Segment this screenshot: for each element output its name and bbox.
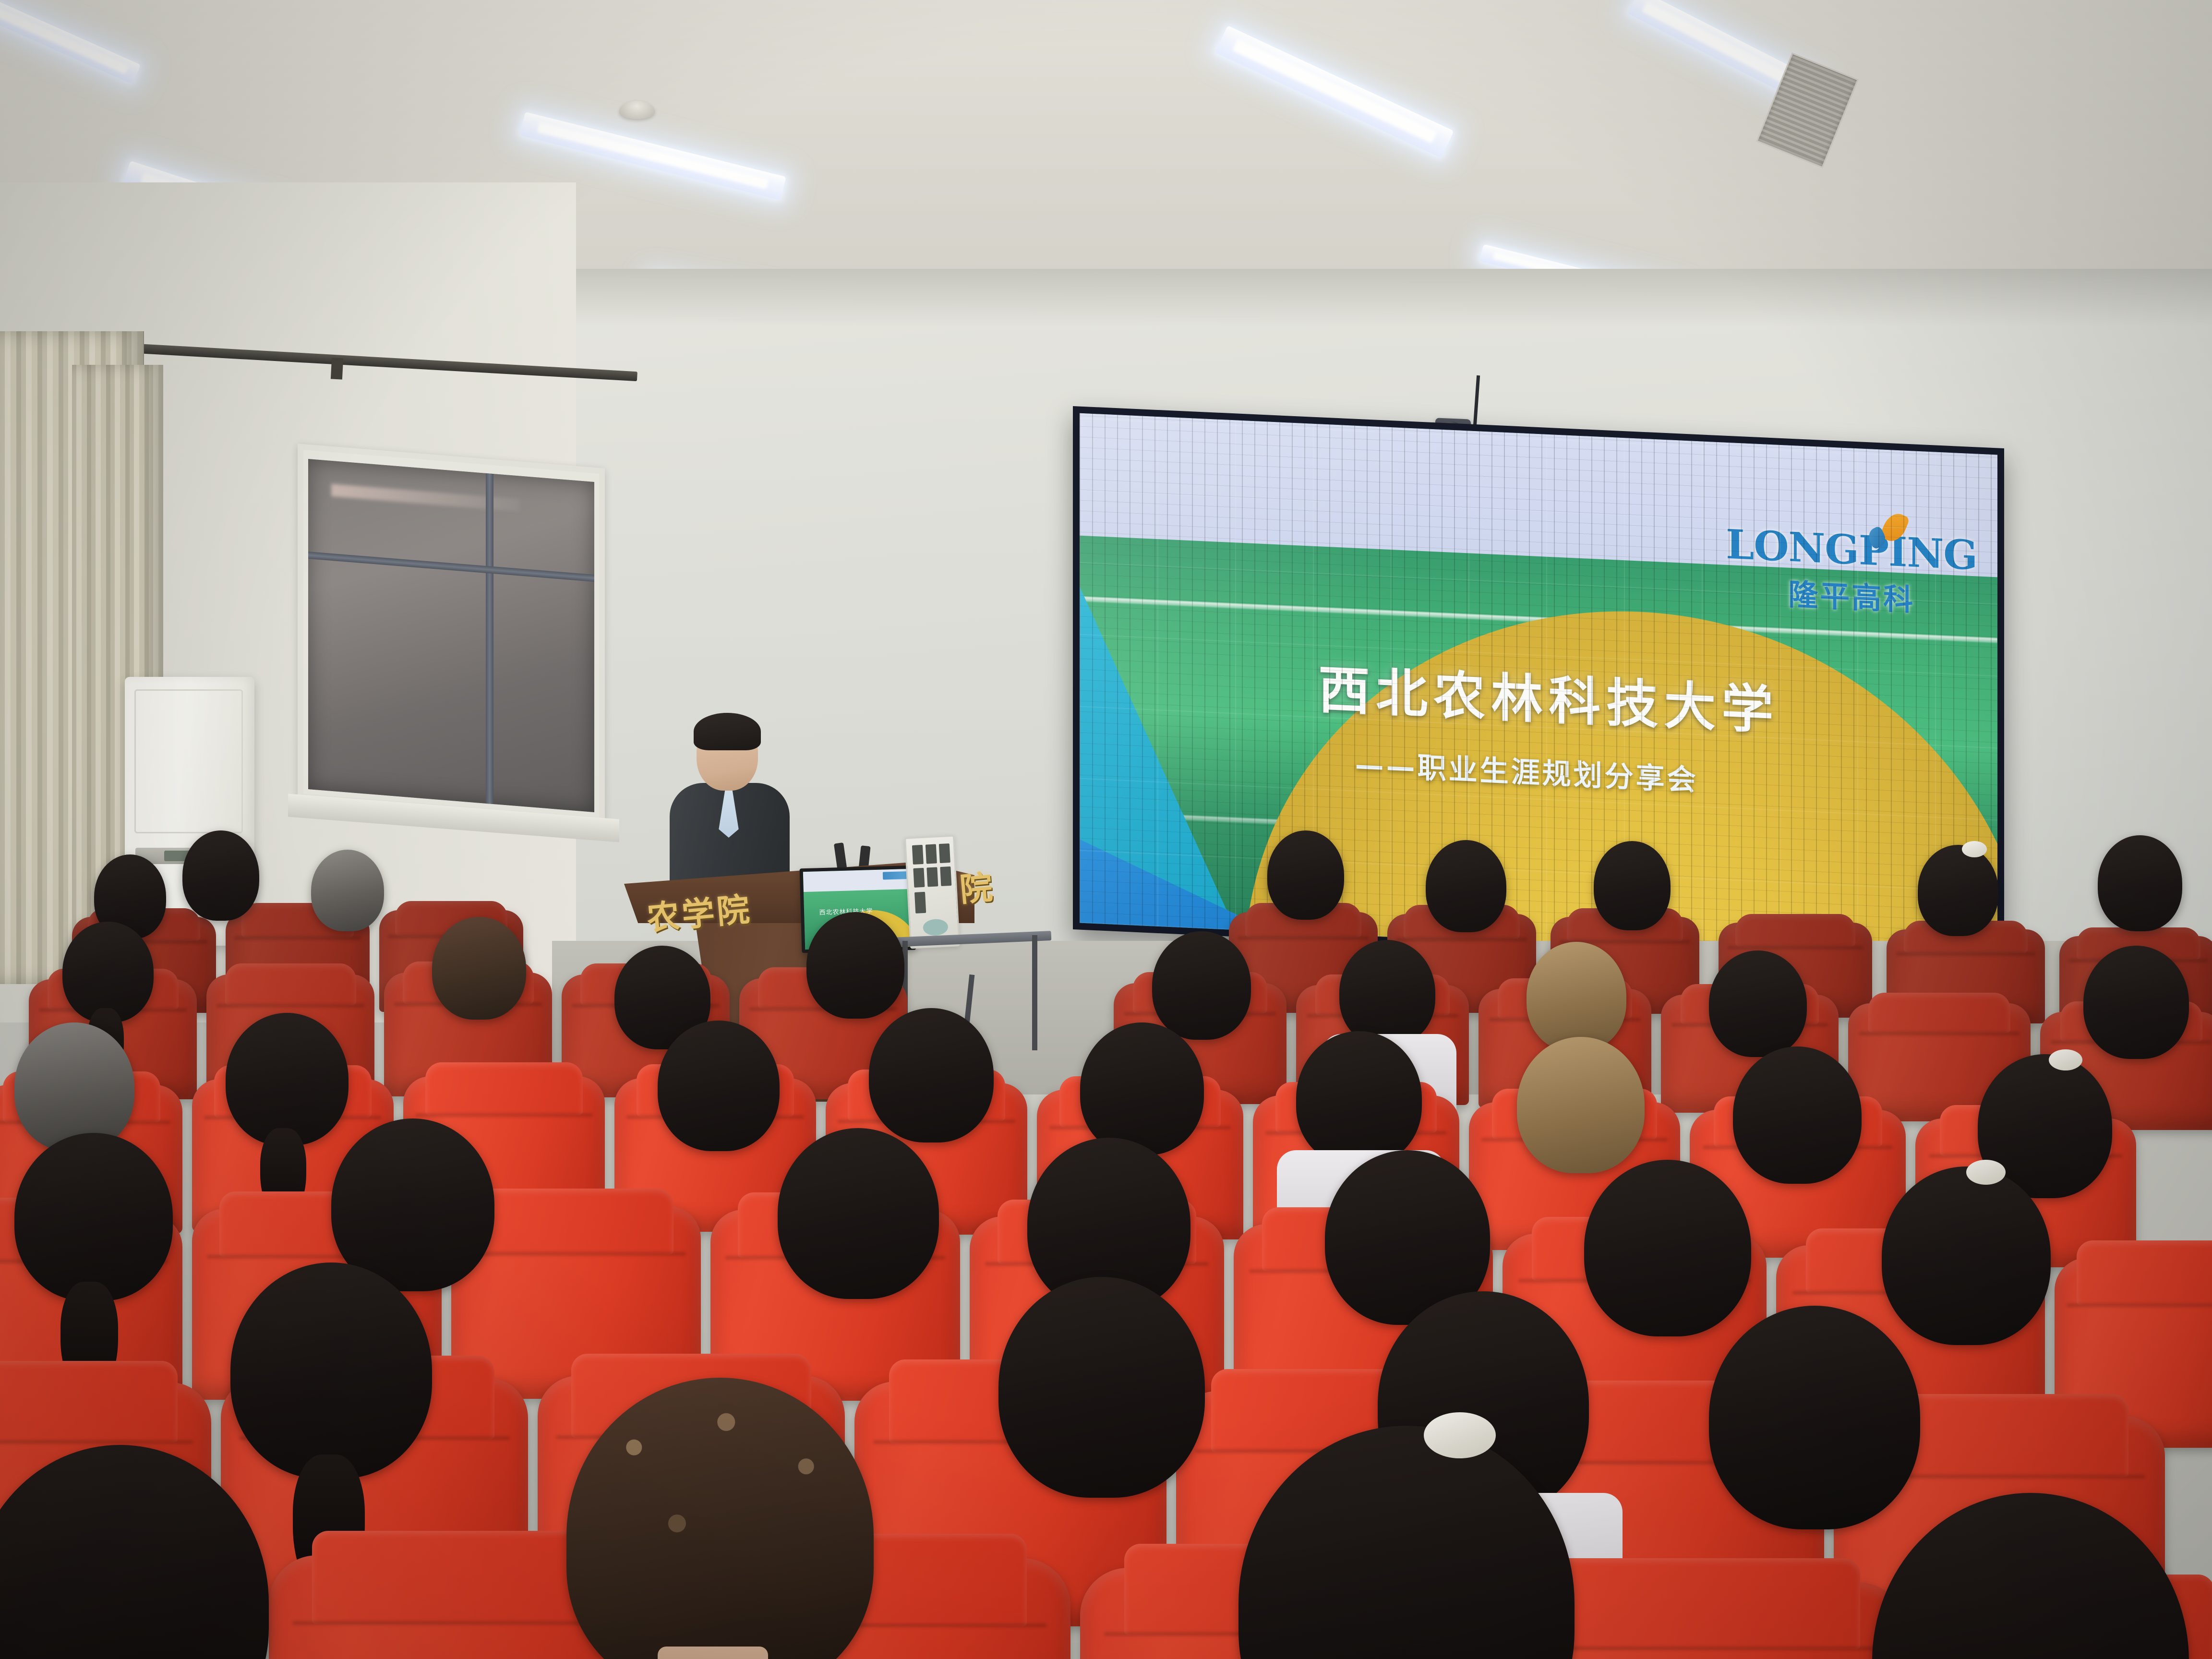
window-mullion <box>486 473 493 804</box>
audience-head <box>806 912 904 1019</box>
presentation-slide: LONGPING 隆平高科 西北农林科技大学 ——职业生涯规划分享会 <box>1080 413 1997 965</box>
audience-head <box>62 922 154 1022</box>
monitor-logo-icon <box>883 871 908 879</box>
audience-head <box>2083 946 2189 1059</box>
control-button[interactable] <box>926 844 937 864</box>
audience-head <box>311 850 384 931</box>
hair-tie <box>1966 1160 2006 1185</box>
audience-head <box>1152 931 1251 1040</box>
audience-head <box>778 1128 939 1299</box>
control-button[interactable] <box>912 845 924 865</box>
audience-head <box>1527 942 1626 1051</box>
control-button[interactable] <box>939 843 950 863</box>
audience-head <box>1296 1031 1422 1166</box>
audience-head <box>230 1262 432 1479</box>
audience-head <box>2098 835 2182 931</box>
audience-head <box>1882 1166 2051 1345</box>
screen-panel: LONGPING 隆平高科 西北农林科技大学 ——职业生涯规划分享会 <box>1080 413 1997 965</box>
audience-head <box>1594 841 1671 930</box>
audience-head <box>1517 1037 1645 1173</box>
audience-head <box>14 1022 134 1151</box>
audience-head <box>1709 1306 1920 1529</box>
audience-head <box>1918 845 1998 936</box>
hair-tie <box>2049 1049 2082 1070</box>
audience-head <box>226 1013 349 1145</box>
smoke-detector-icon <box>619 101 655 119</box>
control-button[interactable] <box>940 866 951 886</box>
audience-head <box>1339 940 1435 1046</box>
lecture-hall-photo: LONGPING 隆平高科 西北农林科技大学 ——职业生涯规划分享会 农学院 <box>0 0 2212 1659</box>
audience-head <box>869 1008 994 1142</box>
control-button[interactable] <box>926 867 938 887</box>
hair-tie <box>1424 1412 1496 1458</box>
control-button[interactable] <box>913 868 925 888</box>
audience-head <box>1709 950 1807 1057</box>
logo-wordmark-en: LONGPING <box>1726 524 1977 576</box>
window-mullion <box>308 552 594 582</box>
curtain-rail-bracket <box>331 358 343 379</box>
audience-head <box>658 1021 780 1151</box>
audience-head <box>182 830 259 921</box>
led-display-screen[interactable]: LONGPING 隆平高科 西北农林科技大学 ——职业生涯规划分享会 <box>1073 406 2004 972</box>
presenter-hair <box>694 713 761 750</box>
audience-neck <box>658 1647 768 1659</box>
ac-front-panel <box>134 689 243 833</box>
audience-head <box>1267 830 1344 920</box>
longping-logo: LONGPING 隆平高科 <box>1726 524 1977 622</box>
audience-head <box>1584 1160 1751 1336</box>
audience-head <box>1426 840 1506 932</box>
monitor-slide-header <box>803 869 911 892</box>
control-button[interactable] <box>914 892 926 914</box>
hair-tie <box>1962 841 1987 857</box>
auditorium-seating <box>0 926 2212 1659</box>
audience-head <box>1733 1046 1862 1184</box>
window-glass <box>308 459 594 812</box>
audience-head <box>14 1133 173 1301</box>
audience-head <box>1080 1022 1204 1155</box>
wall-top-shadow <box>552 269 2212 326</box>
window <box>298 444 605 823</box>
presenter <box>670 713 790 886</box>
audience-head <box>998 1277 1205 1498</box>
audience-head <box>432 917 526 1020</box>
